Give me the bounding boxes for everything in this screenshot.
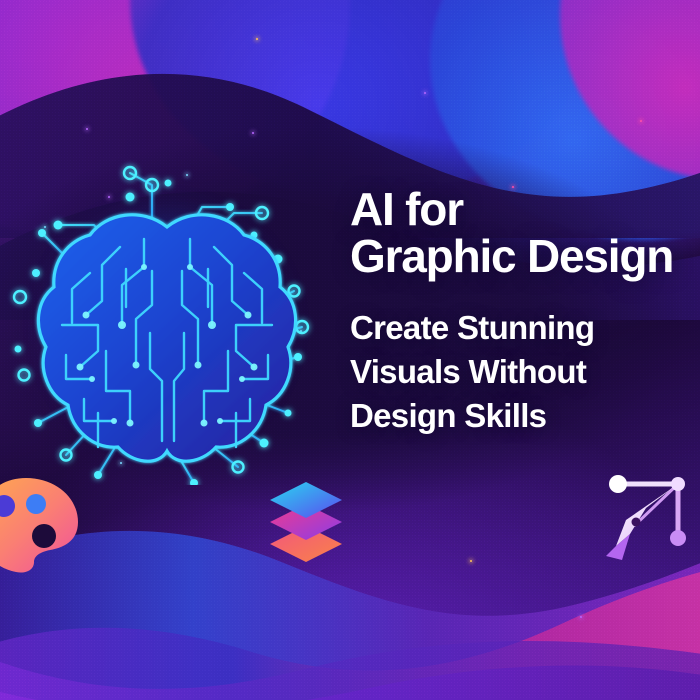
pen-bezier-curve bbox=[634, 484, 678, 526]
page-subtitle: Create Stunning Visuals Without Design S… bbox=[350, 306, 700, 438]
pen-nib-hole bbox=[632, 518, 641, 527]
layers-icon bbox=[258, 472, 354, 564]
pen-anchor-bottom bbox=[670, 530, 686, 546]
subhead-line-2: Visuals Without bbox=[350, 350, 700, 394]
page-title: AI for Graphic Design bbox=[350, 186, 700, 280]
circuit-brain-illustration bbox=[2, 155, 332, 485]
palette-icon bbox=[0, 470, 90, 580]
pen-anchor-corner bbox=[671, 477, 685, 491]
pen-anchor-left bbox=[609, 475, 627, 493]
pen-nib-tip bbox=[606, 534, 630, 560]
background-wave-bottom-4 bbox=[0, 630, 700, 700]
subhead-line-3: Design Skills bbox=[350, 394, 700, 438]
hero-banner: AI for Graphic Design Create Stunning Vi… bbox=[0, 0, 700, 700]
palette-thumb-hole bbox=[32, 524, 56, 548]
subhead-line-1: Create Stunning bbox=[350, 306, 700, 350]
hero-copy: AI for Graphic Design Create Stunning Vi… bbox=[350, 186, 700, 437]
pen-tool-icon bbox=[596, 464, 696, 566]
headline-line-2: Graphic Design bbox=[350, 233, 700, 280]
headline-line-1: AI for bbox=[350, 186, 700, 233]
palette-well-blue bbox=[26, 494, 46, 514]
layers-top bbox=[270, 482, 342, 518]
circuit-brain-svg bbox=[2, 155, 332, 485]
